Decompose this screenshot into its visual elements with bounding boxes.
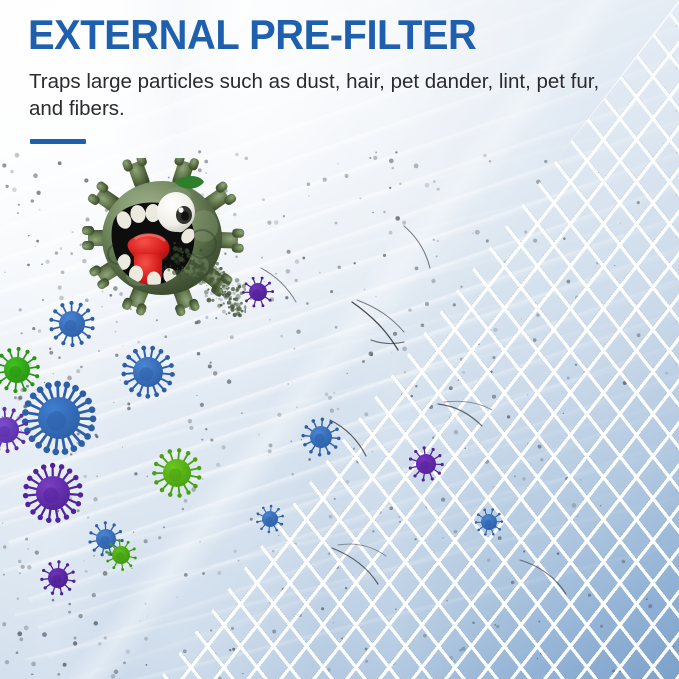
header-block: EXTERNAL PRE-FILTER Traps large particle… — [28, 12, 628, 144]
virus-blue-mesh — [475, 508, 503, 535]
germ-eye — [157, 192, 195, 232]
page-subtitle: Traps large particles such as dust, hair… — [29, 68, 604, 122]
virus-blue-small — [121, 346, 174, 399]
page-title: EXTERNAL PRE-FILTER — [28, 12, 598, 58]
virus-purple-d — [242, 277, 274, 308]
virus-purple-mesh — [409, 446, 444, 481]
virus-blue-tiny-c — [256, 505, 284, 533]
virus-blue-tiny-a — [301, 417, 340, 456]
virus-green-a — [0, 347, 40, 393]
virus-green-b — [152, 448, 201, 498]
accent-rule — [30, 139, 86, 144]
cartoon-germ-monster — [78, 158, 246, 318]
virus-purple-b — [23, 463, 83, 523]
virus-blue-large — [22, 381, 97, 456]
virus-purple-c — [40, 560, 75, 595]
product-infographic: EXTERNAL PRE-FILTER Traps large particle… — [0, 0, 679, 679]
